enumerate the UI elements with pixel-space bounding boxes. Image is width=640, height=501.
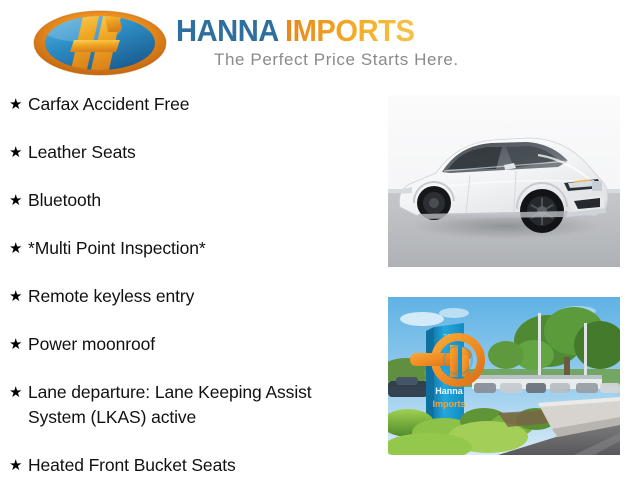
list-item-label: Lane departure: Lane Keeping Assist Syst… [28, 380, 374, 430]
list-item-label: Heated Front Bucket Seats [28, 453, 374, 478]
list-item: ★ *Multi Point Inspection* [0, 236, 380, 261]
star-icon: ★ [9, 92, 28, 117]
star-icon: ★ [9, 453, 28, 478]
vehicle-photo[interactable] [388, 95, 620, 267]
brand-wordmark: HANNAIMPORTS [176, 14, 516, 48]
list-item-label: Carfax Accident Free [28, 92, 374, 117]
list-item-label: Remote keyless entry [28, 284, 374, 309]
star-icon: ★ [9, 236, 28, 261]
brand-tagline: The Perfect Price Starts Here. [214, 50, 459, 70]
svg-text:Imports: Imports [432, 399, 465, 409]
list-item-label: Bluetooth [28, 188, 374, 213]
dealership-photo[interactable]: 300 Hanna Imports [388, 297, 620, 455]
list-item-label: *Multi Point Inspection* [28, 236, 374, 261]
star-icon: ★ [9, 332, 28, 357]
star-icon: ★ [9, 140, 28, 165]
svg-text:Hanna: Hanna [435, 386, 464, 396]
star-icon: ★ [9, 380, 28, 405]
hanna-oval-h-emblem-icon [30, 10, 170, 76]
list-item: ★ Power moonroof [0, 332, 380, 357]
list-item: ★ Carfax Accident Free [0, 92, 380, 117]
star-icon: ★ [9, 284, 28, 309]
list-item: ★ Leather Seats [0, 140, 380, 165]
star-icon: ★ [9, 188, 28, 213]
list-item-label: Leather Seats [28, 140, 374, 165]
vehicle-features-list: ★ Carfax Accident Free ★ Leather Seats ★… [0, 92, 380, 501]
list-item: ★ Bluetooth [0, 188, 380, 213]
brand-header: HANNAIMPORTS The Perfect Price Starts He… [0, 0, 640, 88]
list-item: ★ Remote keyless entry [0, 284, 380, 309]
list-item: ★ Lane departure: Lane Keeping Assist Sy… [0, 380, 380, 430]
brand-name-primary: HANNA [176, 14, 279, 48]
brand-name-secondary: IMPORTS [285, 14, 414, 48]
list-item-label: Power moonroof [28, 332, 374, 357]
list-item: ★ Heated Front Bucket Seats [0, 453, 380, 478]
